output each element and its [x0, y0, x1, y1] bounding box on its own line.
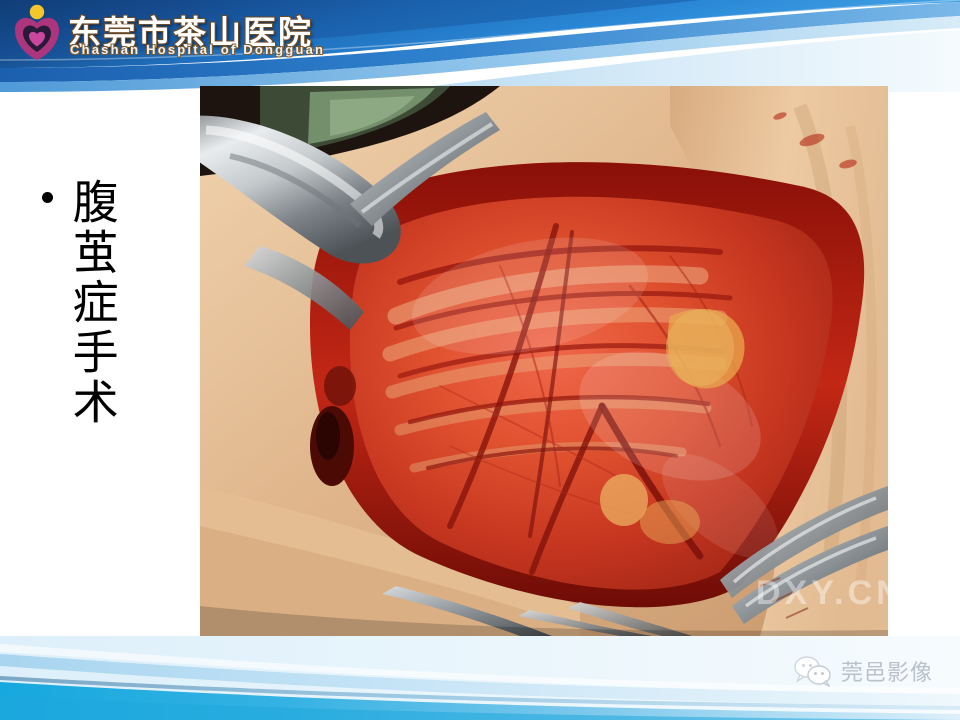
header-banner: 东莞市茶山医院 Chashan Hospital of Dongguan [0, 0, 960, 92]
wechat-watermark: 莞邑影像 [793, 655, 933, 687]
lotus-heart-logo-icon [10, 3, 64, 63]
slide-canvas: 东莞市茶山医院 Chashan Hospital of Dongguan 腹茧症… [0, 0, 960, 720]
wechat-account-name: 莞邑影像 [841, 655, 933, 687]
bullet-list-item: 腹茧症手术 [42, 178, 117, 428]
bullet-text-vertical: 腹茧症手术 [67, 178, 117, 428]
wechat-bubbles-icon [793, 655, 833, 687]
surgical-photo-graphic [200, 86, 888, 636]
bullet-marker-icon [42, 192, 53, 203]
surgical-photo: DXY.CN [200, 86, 888, 636]
hospital-name-en: Chashan Hospital of Dongguan [70, 42, 325, 57]
